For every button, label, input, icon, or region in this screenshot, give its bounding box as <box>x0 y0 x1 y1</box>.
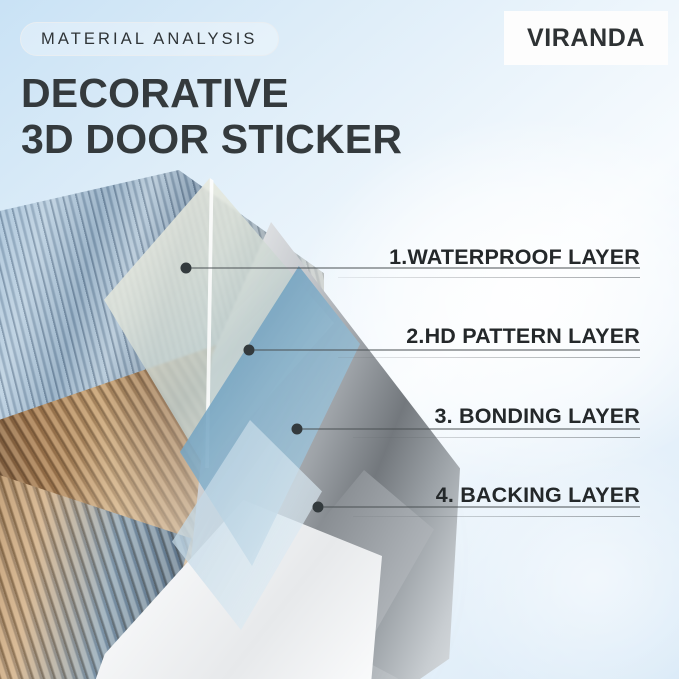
sticker-layers-illustration <box>0 170 464 679</box>
section-badge: MATERIAL ANALYSIS <box>20 22 279 56</box>
brand-logo: VIRANDA <box>504 11 668 65</box>
brand-logo-text: VIRANDA <box>527 24 645 53</box>
page-title: DECORATIVE 3D DOOR STICKER <box>21 70 541 162</box>
section-badge-label: MATERIAL ANALYSIS <box>41 30 258 49</box>
page-title-line-1: DECORATIVE <box>21 70 541 116</box>
material-analysis-infographic: MATERIAL ANALYSIS DECORATIVE 3D DOOR STI… <box>0 0 679 679</box>
page-title-line-2: 3D DOOR STICKER <box>21 116 541 162</box>
